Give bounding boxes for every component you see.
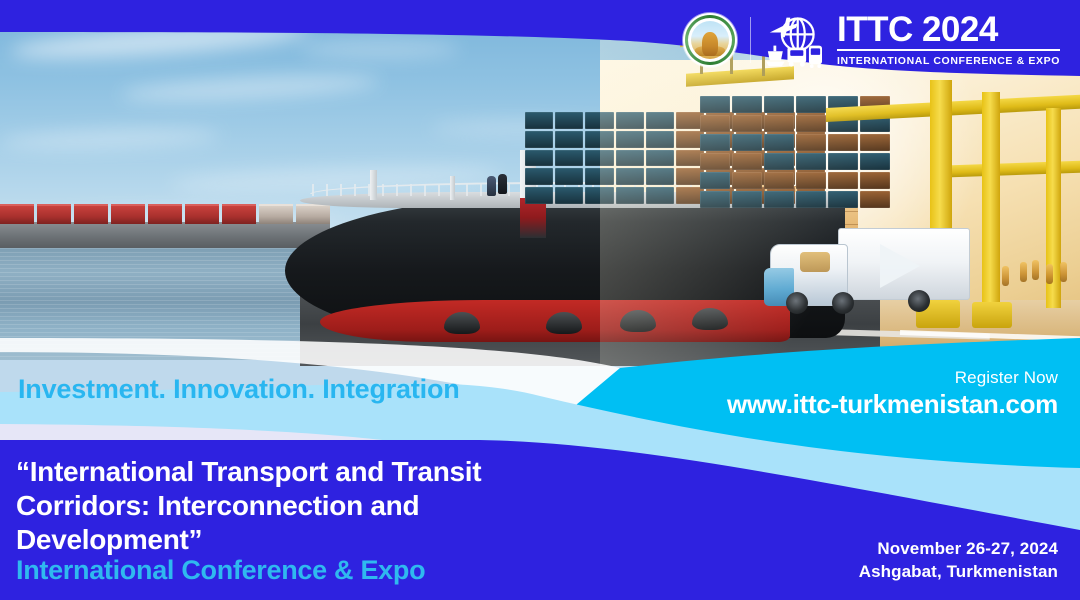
ittc-2024-event-banner: ITTC 2024 INTERNATIONAL CONFERENCE & EXP… xyxy=(0,0,1080,600)
ship-mast xyxy=(370,170,377,200)
crew-member xyxy=(487,176,496,196)
shipping-container xyxy=(555,168,583,185)
ittc-wordmark: ITTC 2024 INTERNATIONAL CONFERENCE & EXP… xyxy=(837,13,1060,67)
conference-subhead: International Conference & Expo xyxy=(16,556,616,586)
shipping-container xyxy=(525,131,553,148)
crew-member xyxy=(498,174,507,194)
shipping-container xyxy=(555,187,583,204)
tagline: Investment. Innovation. Integration xyxy=(18,374,460,405)
event-location: Ashgabat, Turkmenistan xyxy=(859,561,1058,584)
freight-train xyxy=(0,204,330,224)
registration-block: Register Now www.ittc-turkmenistan.com xyxy=(727,368,1058,420)
registration-url-link[interactable]: www.ittc-turkmenistan.com xyxy=(727,388,1058,421)
shipping-container xyxy=(555,131,583,148)
shipping-container xyxy=(525,187,553,204)
event-details: November 26-27, 2024 Ashgabat, Turkmenis… xyxy=(859,538,1058,584)
logo-lockup: ITTC 2024 INTERNATIONAL CONFERENCE & EXP… xyxy=(683,9,1060,71)
distant-quay xyxy=(0,222,330,248)
globe-multimodal-transport-icon xyxy=(764,12,824,68)
shipping-container xyxy=(525,112,553,129)
shipping-container xyxy=(525,168,553,185)
shipping-container xyxy=(555,112,583,129)
ship-funnel xyxy=(520,198,546,238)
ship-mast xyxy=(450,176,455,200)
register-label: Register Now xyxy=(727,368,1058,388)
event-dates: November 26-27, 2024 xyxy=(859,538,1058,561)
ittc-subtitle: INTERNATIONAL CONFERENCE & EXPO xyxy=(837,53,1060,67)
turkmenistan-state-emblem-icon xyxy=(683,13,737,67)
shipping-container xyxy=(555,150,583,167)
shipping-container xyxy=(525,150,553,167)
ittc-title: ITTC 2024 xyxy=(837,13,1060,51)
logo-divider xyxy=(750,17,751,63)
conference-headline: “International Transport and Transit Cor… xyxy=(16,455,576,557)
